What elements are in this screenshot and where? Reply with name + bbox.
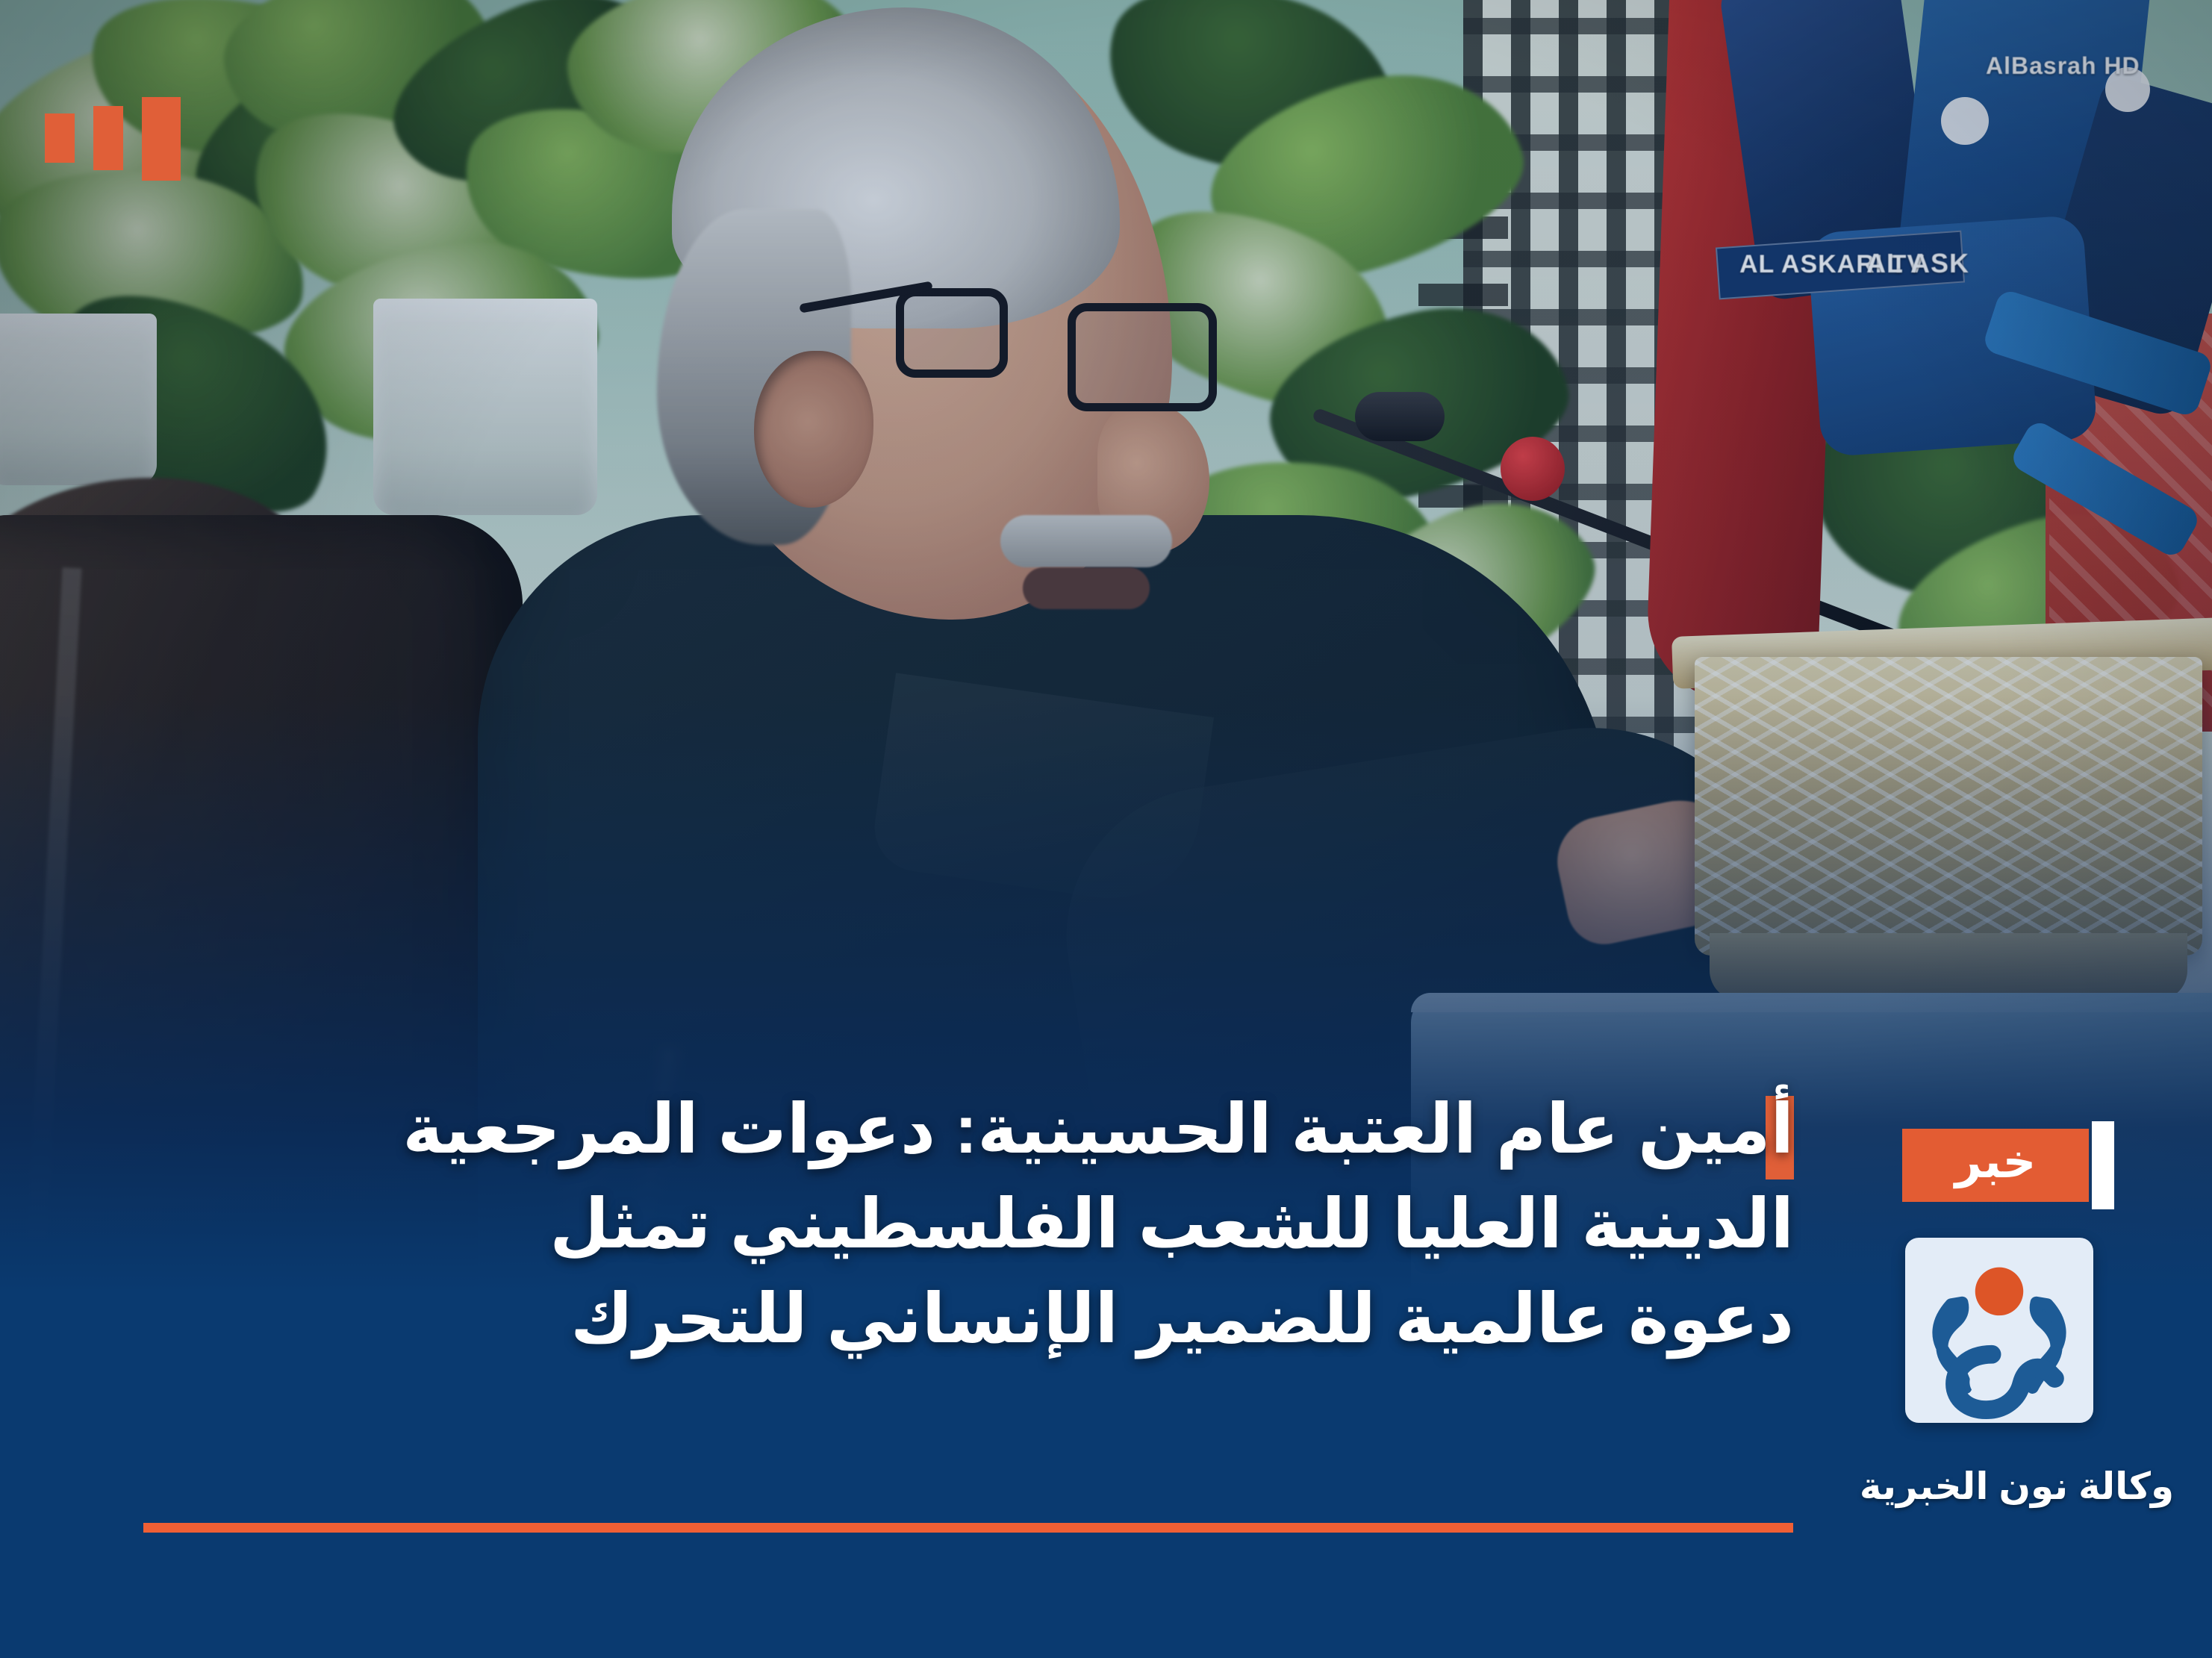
agency-logo[interactable]	[1905, 1238, 2093, 1423]
headline: أمين عام العتبة الحسينية: دعوات المرجعية…	[112, 1082, 1794, 1367]
photo-to-navy-gradient	[0, 0, 2212, 1658]
watermark-bar-1	[142, 97, 181, 181]
headline-line-1: أمين عام العتبة الحسينية: دعوات المرجعية	[112, 1082, 1794, 1177]
news-badge-label: خبر	[1955, 1139, 2037, 1185]
watermark-bar-3	[45, 113, 75, 163]
news-card: AL ASKARI TV AL ASK AlBasrah HD أمين عام…	[0, 0, 2212, 1658]
headline-underline	[143, 1523, 1793, 1533]
news-photo: AL ASKARI TV AL ASK AlBasrah HD	[0, 0, 2212, 1658]
headline-line-3: دعوة عالمية للضمير الإنساني للتحرك	[112, 1272, 1794, 1367]
news-badge-tick	[2092, 1121, 2114, 1209]
noon-agency-person-icon	[1905, 1238, 2093, 1423]
headline-line-2: الدينية العليا للشعب الفلسطيني تمثل	[112, 1177, 1794, 1272]
news-badge[interactable]: خبر	[1902, 1129, 2089, 1202]
agency-name: وكالة نون الخبرية	[1822, 1465, 2212, 1508]
watermark-bar-2	[93, 106, 123, 170]
brand-watermark	[45, 97, 181, 181]
